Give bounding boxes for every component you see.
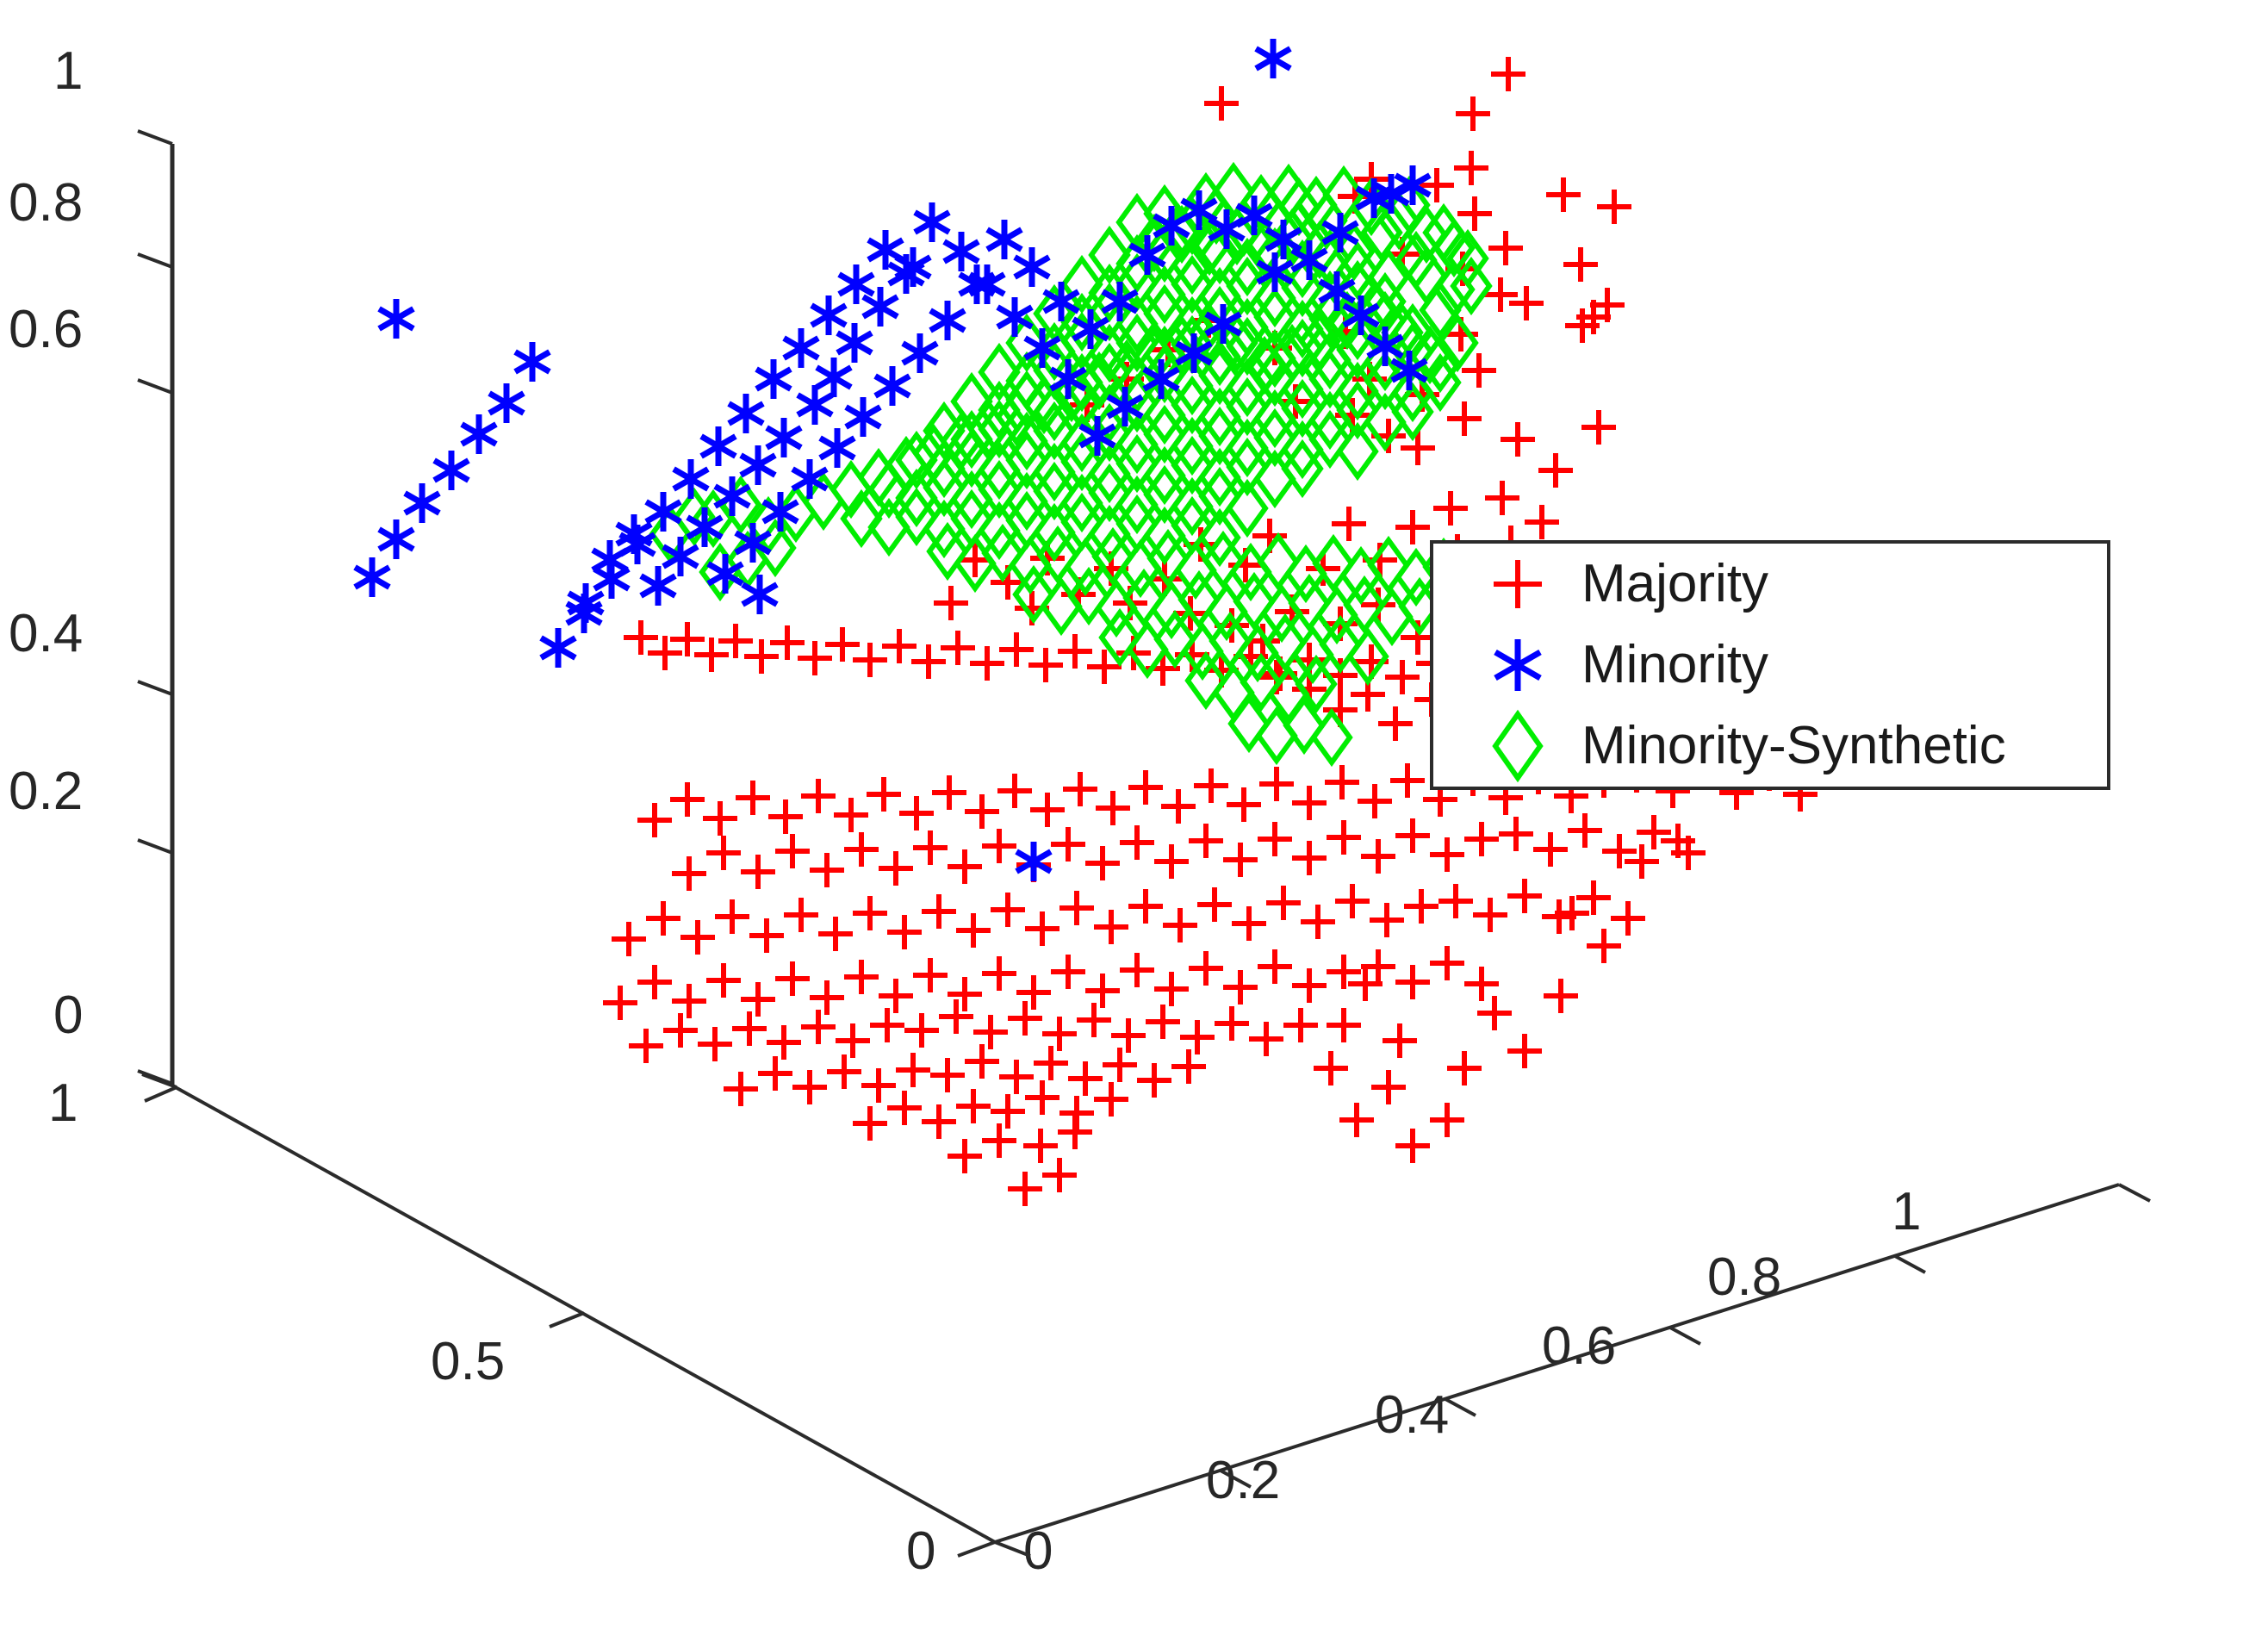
data-point [1094, 1082, 1128, 1117]
data-point [1068, 1061, 1103, 1096]
data-point [1256, 39, 1290, 78]
data-point [853, 1106, 887, 1141]
data-point [1128, 889, 1163, 924]
data-point [879, 851, 913, 886]
data-point [1085, 974, 1120, 1008]
data-point [801, 779, 836, 813]
legend-item-minority[interactable]: Minority [1433, 625, 2107, 706]
data-point [1361, 839, 1395, 874]
data-point [1016, 842, 1051, 881]
data-point [1051, 827, 1085, 862]
data-point [637, 965, 672, 999]
data-point [1314, 1051, 1348, 1085]
data-point [736, 781, 770, 815]
data-point [1576, 880, 1611, 915]
data-point [1051, 955, 1085, 989]
data-point [1301, 905, 1335, 939]
data-point [1103, 1048, 1137, 1082]
data-point [741, 855, 775, 889]
asterisk-icon [1466, 631, 1569, 700]
data-point [1430, 946, 1464, 980]
data-point [798, 385, 832, 425]
data-point [775, 961, 810, 996]
data-point [1395, 818, 1430, 853]
data-point [1395, 510, 1430, 544]
data-point [887, 915, 922, 949]
data-point [1501, 422, 1535, 457]
data-point [1120, 825, 1154, 860]
data-point [1370, 903, 1404, 937]
data-point [1025, 911, 1059, 946]
data-point [870, 1008, 904, 1042]
data-point [1154, 844, 1189, 879]
data-point [896, 247, 930, 287]
legend-label-minority-synthetic: Minority-Synthetic [1581, 719, 2006, 773]
data-point [903, 333, 937, 373]
data-point [922, 894, 956, 929]
data-point [997, 774, 1032, 808]
data-point [701, 426, 736, 466]
data-point [1077, 1003, 1111, 1037]
data-point [899, 796, 934, 830]
data-point [1096, 791, 1130, 825]
data-point [641, 566, 675, 606]
data-point [1161, 789, 1196, 824]
data-point [1227, 787, 1261, 822]
data-point [1292, 786, 1327, 820]
data-point [1163, 908, 1197, 942]
data-point [939, 999, 973, 1034]
data-point [1533, 832, 1568, 867]
data-point [784, 898, 818, 932]
data-point [853, 896, 887, 930]
data-point [1059, 891, 1094, 925]
data-point [1430, 1103, 1464, 1137]
data-point [836, 1023, 870, 1058]
data-point [379, 519, 413, 559]
data-point [1488, 231, 1523, 265]
data-point [767, 1025, 801, 1060]
data-point [1128, 770, 1163, 805]
data-point [1146, 1005, 1180, 1039]
legend[interactable]: Majority Minority [1430, 540, 2110, 790]
data-point [1485, 481, 1519, 515]
data-point [1457, 196, 1492, 231]
data-point [1499, 817, 1533, 851]
data-point [1023, 1129, 1058, 1163]
data-point [879, 979, 913, 1013]
data-point [646, 901, 680, 936]
data-point [489, 383, 524, 423]
data-point [1215, 1006, 1249, 1041]
data-point [1563, 247, 1598, 282]
data-point [1447, 401, 1482, 436]
legend-label-minority: Minority [1581, 638, 1768, 692]
data-point [612, 922, 646, 956]
data-point [999, 1060, 1034, 1094]
data-point [1447, 1051, 1482, 1085]
data-point [1546, 177, 1581, 212]
data-point [434, 451, 469, 490]
data-point [1611, 901, 1645, 936]
data-point [1332, 507, 1366, 541]
data-point [1266, 886, 1301, 920]
data-point [729, 394, 763, 433]
data-point [767, 418, 801, 457]
data-point [810, 980, 844, 1015]
data-point [1378, 706, 1413, 741]
data-point [1016, 975, 1051, 1010]
data-point [792, 1070, 827, 1104]
data-point [1525, 505, 1559, 539]
legend-item-majority[interactable]: Majority [1433, 544, 2107, 625]
data-point [1180, 1020, 1215, 1054]
data-point [810, 853, 844, 887]
data-point [827, 1054, 861, 1089]
data-point [405, 483, 439, 523]
data-point [1197, 887, 1232, 922]
data-point [982, 1123, 1016, 1158]
data-point [1587, 929, 1621, 963]
data-point [1025, 1080, 1059, 1115]
data-point [867, 777, 901, 812]
data-point [922, 1104, 956, 1139]
data-point [784, 328, 818, 368]
data-point [1568, 813, 1602, 848]
data-point [741, 982, 775, 1017]
data-point [930, 1058, 965, 1092]
data-point [703, 801, 737, 836]
data-point [982, 829, 1016, 863]
data-point [670, 782, 705, 817]
data-point [1454, 151, 1488, 185]
data-point [944, 232, 979, 271]
data-point [1544, 979, 1578, 1013]
data-point [637, 803, 672, 837]
data-point [603, 986, 637, 1020]
data-point [1042, 1017, 1077, 1051]
data-point [1008, 1172, 1042, 1206]
data-point [1194, 768, 1228, 803]
data-point [982, 956, 1016, 991]
data-point [1189, 951, 1223, 986]
data-point [1335, 884, 1370, 918]
legend-item-minority-synthetic[interactable]: Minority-Synthetic [1433, 706, 2107, 787]
data-point [1111, 1018, 1146, 1053]
series-minority-synthetic [652, 166, 1489, 762]
data-point [775, 834, 810, 868]
data-point [861, 1068, 896, 1103]
legend-label-majority: Majority [1581, 557, 1768, 611]
data-point [868, 230, 903, 270]
data-point [1232, 906, 1266, 941]
data-point [875, 366, 910, 406]
data-point [1395, 1129, 1430, 1163]
data-point [956, 1089, 991, 1123]
plus-icon [1466, 550, 1569, 619]
scatter3d-figure: 10.80.60.40.2010.5000.20.40.60.81 Majori… [0, 0, 2268, 1636]
data-point [1390, 763, 1425, 798]
data-point [846, 397, 880, 437]
data-point [817, 358, 851, 397]
data-point [1120, 953, 1154, 987]
data-point [1283, 1008, 1318, 1042]
data-point [1058, 1115, 1092, 1149]
scatter-data-layer [0, 0, 2268, 1636]
data-point [948, 977, 982, 1011]
data-point [965, 794, 999, 829]
data-point [1094, 910, 1128, 944]
data-point [801, 1010, 836, 1044]
data-point [515, 342, 550, 382]
data-point [1327, 1008, 1361, 1042]
data-point [1491, 57, 1525, 91]
data-point [1371, 1070, 1406, 1104]
data-point [932, 775, 966, 810]
data-point [1292, 841, 1327, 875]
data-point [698, 1027, 732, 1061]
data-point [991, 893, 1025, 927]
data-point [672, 856, 706, 891]
data-point [1249, 1022, 1283, 1056]
data-point [1154, 972, 1189, 1006]
data-point [1063, 772, 1097, 806]
data-point [896, 1053, 930, 1087]
data-point [1042, 1158, 1077, 1192]
data-point [1385, 660, 1420, 694]
data-point [973, 1015, 1008, 1049]
data-point [1358, 784, 1392, 818]
data-point [715, 899, 749, 934]
data-point [1008, 1001, 1042, 1036]
data-point [1015, 247, 1049, 287]
data-point [1383, 1023, 1417, 1058]
data-point [948, 849, 982, 884]
data-point [1597, 190, 1631, 224]
data-point [1507, 879, 1542, 913]
data-point [1438, 884, 1473, 918]
data-point [462, 414, 496, 454]
data-point [732, 1011, 767, 1046]
data-point [934, 586, 968, 620]
data-point [965, 1044, 999, 1079]
data-point [1581, 410, 1616, 445]
data-point [663, 1013, 698, 1048]
data-point [1473, 898, 1507, 932]
data-point [915, 202, 949, 242]
data-point [674, 459, 708, 499]
data-point [624, 620, 658, 655]
data-point [1223, 970, 1258, 1005]
data-point [818, 917, 853, 951]
data-point [904, 1013, 939, 1048]
data-point [1404, 889, 1438, 924]
data-point [741, 445, 775, 485]
data-point [756, 359, 791, 399]
data-point [844, 960, 879, 994]
data-point [1137, 1063, 1171, 1098]
data-point [913, 830, 948, 865]
data-point [1538, 453, 1573, 488]
data-point [1292, 968, 1327, 1003]
data-point [1258, 822, 1292, 856]
data-point [1327, 820, 1361, 855]
data-point [820, 428, 854, 468]
data-point [1339, 1103, 1374, 1137]
data-point [1507, 1034, 1542, 1068]
data-point [1259, 767, 1294, 801]
data-point [758, 1056, 792, 1091]
data-point [680, 920, 715, 955]
data-point [629, 1029, 663, 1063]
data-point [1509, 286, 1544, 320]
data-point [987, 220, 1022, 259]
data-point [1171, 1049, 1206, 1084]
data-point [1204, 86, 1239, 121]
diamond-open-icon [1466, 712, 1569, 781]
data-point [1464, 822, 1499, 856]
data-point [1258, 949, 1292, 984]
data-point [355, 557, 389, 597]
data-point [1395, 965, 1430, 999]
data-point [672, 984, 706, 1018]
data-point [956, 913, 991, 948]
data-point [1325, 765, 1359, 799]
data-point [1433, 491, 1468, 526]
data-point [1456, 96, 1490, 131]
data-point [913, 958, 948, 992]
data-point [1430, 837, 1464, 872]
data-point [541, 628, 575, 668]
data-point [379, 299, 413, 339]
data-point [930, 301, 965, 340]
data-point [749, 918, 784, 953]
data-point [1085, 846, 1120, 880]
data-point [887, 1091, 922, 1125]
data-point [1030, 793, 1065, 827]
data-point [844, 832, 879, 867]
data-point [1223, 843, 1258, 877]
data-point [991, 1094, 1025, 1129]
data-point [706, 836, 741, 870]
data-point [834, 798, 868, 832]
data-point [724, 1072, 758, 1106]
data-point [1189, 824, 1223, 858]
data-point [1034, 1046, 1068, 1080]
data-point [706, 963, 741, 998]
data-point [768, 799, 803, 834]
data-point [837, 323, 872, 363]
data-point [811, 295, 846, 335]
data-point [948, 1139, 982, 1173]
